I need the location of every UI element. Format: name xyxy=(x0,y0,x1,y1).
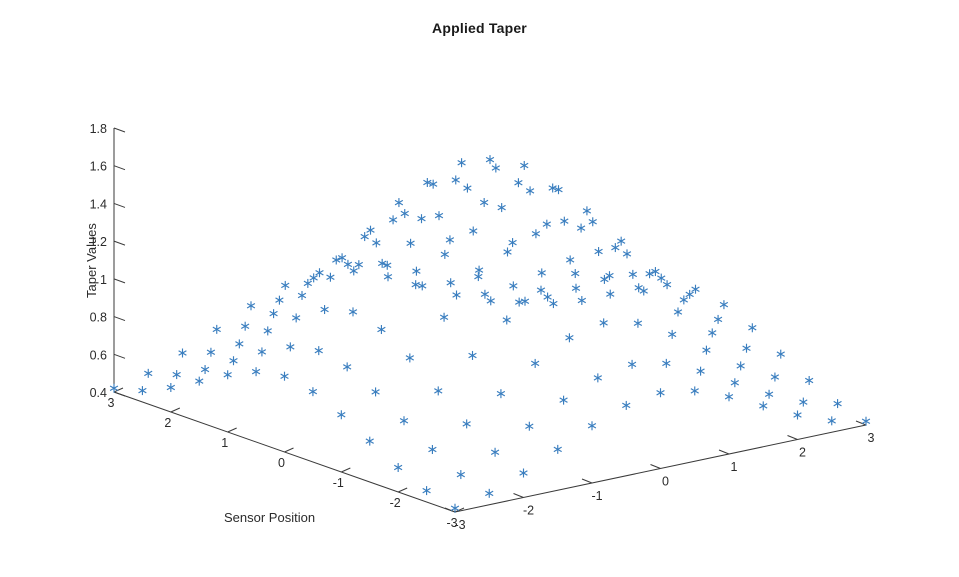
y-tick-4 xyxy=(719,450,729,454)
scatter-marker xyxy=(372,387,380,396)
scatter-marker xyxy=(213,325,221,334)
scatter-marker xyxy=(486,155,494,164)
scatter-marker xyxy=(327,273,335,282)
scatter-marker xyxy=(538,268,546,277)
scatter-marker xyxy=(474,272,482,281)
scatter-marker xyxy=(537,286,545,295)
scatter-marker xyxy=(691,386,699,395)
scatter-marker xyxy=(657,274,665,283)
scatter-marker xyxy=(389,215,397,224)
scatter-marker xyxy=(384,272,392,281)
scatter-marker xyxy=(759,401,767,410)
scatter-marker xyxy=(252,367,260,376)
x-tick-label-3: 0 xyxy=(278,456,285,470)
scatter-marker xyxy=(674,307,682,316)
z-tick-label-1: 0.6 xyxy=(90,348,107,362)
scatter-marker xyxy=(469,226,477,235)
y-tick-label-0: -3 xyxy=(454,518,465,532)
scatter-marker xyxy=(434,386,442,395)
x-tick-5 xyxy=(398,488,407,492)
scatter-marker xyxy=(298,291,306,300)
scatter-marker xyxy=(276,296,284,305)
scatter-marker xyxy=(731,378,739,387)
x-tick-2 xyxy=(228,428,237,432)
scatter-marker xyxy=(167,383,175,392)
y-tick-label-1: -2 xyxy=(523,504,534,518)
scatter-marker xyxy=(224,370,232,379)
scatter-marker xyxy=(355,260,363,269)
z-tick-label-5: 1.4 xyxy=(90,197,107,211)
scatter-marker xyxy=(771,373,779,382)
scatter-marker xyxy=(321,305,329,314)
scatter-marker xyxy=(475,266,483,275)
scatter-marker xyxy=(423,486,431,495)
scatter-marker xyxy=(794,411,802,420)
scatter-marker xyxy=(344,260,352,269)
plot-area: 3210-1-2-3-3-2-101230.40.60.811.21.41.61… xyxy=(0,0,959,577)
scatter-marker xyxy=(520,161,528,170)
scatter-marker xyxy=(309,387,317,396)
scatter-marker xyxy=(595,247,603,256)
z-tick-label-7: 1.8 xyxy=(90,122,107,136)
scatter-marker xyxy=(481,290,489,299)
z-tick-6 xyxy=(114,166,125,170)
scatter-marker xyxy=(588,421,596,430)
scatter-marker xyxy=(457,470,465,479)
scatter-marker xyxy=(258,347,266,356)
scatter-marker xyxy=(270,309,278,318)
scatter-marker xyxy=(606,271,614,280)
scatter-marker xyxy=(737,361,745,370)
z-tick-label-6: 1.6 xyxy=(90,160,107,174)
scatter-marker xyxy=(525,422,533,431)
x-tick-label-4: -1 xyxy=(333,476,344,490)
scatter-marker xyxy=(429,445,437,454)
scatter-marker xyxy=(544,293,552,302)
x-tick-3 xyxy=(285,448,294,452)
scatter-marker xyxy=(173,370,181,379)
scatter-marker xyxy=(281,281,289,290)
scatter-marker xyxy=(765,390,773,399)
scatter-marker xyxy=(708,328,716,337)
scatter-marker xyxy=(504,247,512,256)
scatter-marker xyxy=(469,351,477,360)
axis-tick-labels-group: 3210-1-2-3-3-2-101230.40.60.811.21.41.61… xyxy=(90,122,875,532)
scatter-marker xyxy=(286,342,294,351)
scatter-marker xyxy=(503,315,511,324)
scatter-marker xyxy=(366,437,374,446)
scatter-markers-group xyxy=(110,155,870,513)
scatter-marker xyxy=(532,229,540,238)
scatter-marker xyxy=(394,463,402,472)
z-tick-label-2: 0.8 xyxy=(90,311,107,325)
scatter-marker xyxy=(413,267,421,276)
scatter-marker xyxy=(703,346,711,355)
scatter-marker xyxy=(264,326,272,335)
scatter-marker xyxy=(623,249,631,258)
z-tick-1 xyxy=(114,354,125,358)
scatter-marker xyxy=(201,365,209,374)
scatter-marker xyxy=(441,250,449,259)
scatter-marker xyxy=(492,163,500,172)
scatter-marker xyxy=(805,376,813,385)
scatter-marker xyxy=(350,266,358,275)
x-tick-label-5: -2 xyxy=(390,496,401,510)
scatter-marker xyxy=(606,290,614,299)
scatter-marker xyxy=(834,399,842,408)
z-tick-label-3: 1 xyxy=(100,273,107,287)
scatter-marker xyxy=(583,206,591,215)
scatter-marker xyxy=(315,346,323,355)
scatter-marker xyxy=(743,344,751,353)
axes-group xyxy=(114,128,866,512)
scatter-marker xyxy=(657,388,665,397)
y-tick-5 xyxy=(788,436,798,440)
scatter-marker xyxy=(401,209,409,218)
scatter-marker xyxy=(464,184,472,193)
scatter-marker xyxy=(697,367,705,376)
scatter-marker xyxy=(446,235,454,244)
scatter-marker xyxy=(195,377,203,386)
scatter-marker xyxy=(395,198,403,207)
scatter-marker xyxy=(663,280,671,289)
scatter-marker xyxy=(725,392,733,401)
scatter-marker xyxy=(491,448,499,457)
scatter-marker xyxy=(635,283,643,292)
z-tick-2 xyxy=(114,317,125,321)
scatter-marker xyxy=(634,319,642,328)
scatter-marker xyxy=(720,300,728,309)
scatter-marker xyxy=(600,318,608,327)
z-tick-4 xyxy=(114,241,125,245)
scatter-marker xyxy=(247,301,255,310)
scatter-marker xyxy=(828,416,836,425)
y-tick-label-5: 2 xyxy=(799,446,806,460)
scatter-marker xyxy=(622,401,630,410)
z-tick-5 xyxy=(114,203,125,207)
x-tick-label-0: 3 xyxy=(108,396,115,410)
y-tick-1 xyxy=(514,494,524,498)
scatter-marker xyxy=(515,178,523,187)
scatter-marker xyxy=(560,217,568,226)
scatter-marker xyxy=(509,238,517,247)
x-tick-4 xyxy=(341,468,350,472)
scatter-marker xyxy=(799,398,807,407)
scatter-marker xyxy=(560,396,568,405)
scatter-marker xyxy=(361,232,369,241)
scatter-marker xyxy=(628,360,636,369)
scatter-marker xyxy=(748,323,756,332)
scatter-marker xyxy=(207,348,215,357)
x-tick-1 xyxy=(171,408,180,412)
scatter-marker xyxy=(485,489,493,498)
z-tick-label-4: 1.2 xyxy=(90,235,107,249)
scatter-marker xyxy=(406,353,414,362)
scatter-marker xyxy=(629,270,637,279)
scatter-marker xyxy=(349,307,357,316)
scatter-marker xyxy=(235,339,243,348)
scatter-marker xyxy=(230,356,238,365)
scatter-marker xyxy=(241,322,249,331)
scatter-marker xyxy=(453,291,461,300)
scatter-marker xyxy=(452,175,460,184)
scatter-marker xyxy=(640,286,648,295)
scatter-marker xyxy=(144,369,152,378)
scatter-marker xyxy=(543,220,551,229)
scatter-marker xyxy=(463,419,471,428)
scatter-marker xyxy=(531,359,539,368)
scatter-marker xyxy=(577,224,585,233)
y-tick-3 xyxy=(651,465,661,469)
scatter-marker xyxy=(611,243,619,252)
scatter-marker xyxy=(498,203,506,212)
scatter-marker xyxy=(578,296,586,305)
axis-ticks-group xyxy=(114,128,866,512)
scatter-marker xyxy=(777,350,785,359)
scatter-marker xyxy=(520,469,528,478)
scatter-marker xyxy=(337,410,345,419)
scatter-marker xyxy=(139,386,147,395)
scatter-marker xyxy=(400,416,408,425)
z-tick-3 xyxy=(114,279,125,283)
scatter-marker xyxy=(509,281,517,290)
y-tick-label-3: 0 xyxy=(662,475,669,489)
scatter-marker xyxy=(378,325,386,334)
y-tick-2 xyxy=(582,479,592,483)
y-tick-label-2: -1 xyxy=(591,489,602,503)
scatter-marker xyxy=(601,275,609,284)
scatter-marker xyxy=(343,362,351,371)
scatter-marker xyxy=(110,384,118,393)
scatter-marker xyxy=(617,237,625,246)
scatter-marker xyxy=(554,445,562,454)
z-tick-0 xyxy=(114,392,125,396)
scatter-marker xyxy=(418,214,426,223)
scatter-marker xyxy=(594,373,602,382)
scatter-marker xyxy=(447,278,455,287)
scatter-marker xyxy=(714,315,722,324)
scatter-marker xyxy=(566,255,574,264)
scatter-marker xyxy=(550,299,558,308)
scatter-marker xyxy=(440,313,448,322)
z-tick-7 xyxy=(114,128,125,132)
scatter-marker xyxy=(571,269,579,278)
scatter-marker xyxy=(572,284,580,293)
x-tick-label-2: 1 xyxy=(221,436,228,450)
scatter-marker xyxy=(480,198,488,207)
scatter-marker xyxy=(367,226,375,235)
scatter-marker xyxy=(407,239,415,248)
scatter-marker xyxy=(292,313,300,322)
scatter-marker xyxy=(435,211,443,220)
z-tick-label-0: 0.4 xyxy=(90,386,107,400)
scatter-marker xyxy=(497,389,505,398)
scatter-marker xyxy=(662,359,670,368)
y-tick-label-4: 1 xyxy=(731,460,738,474)
scatter-marker xyxy=(566,333,574,342)
scatter-marker xyxy=(281,372,289,381)
scatter-marker xyxy=(487,296,495,305)
scatter-marker xyxy=(668,330,676,339)
x-tick-label-1: 2 xyxy=(164,416,171,430)
scatter-marker xyxy=(589,217,597,226)
figure-canvas: Applied Taper Taper Values Sensor Positi… xyxy=(0,0,959,577)
scatter-marker xyxy=(372,238,380,247)
scatter-marker xyxy=(179,349,187,358)
scatter-marker xyxy=(526,186,534,195)
y-tick-label-6: 3 xyxy=(868,431,875,445)
scatter-marker xyxy=(458,158,466,167)
